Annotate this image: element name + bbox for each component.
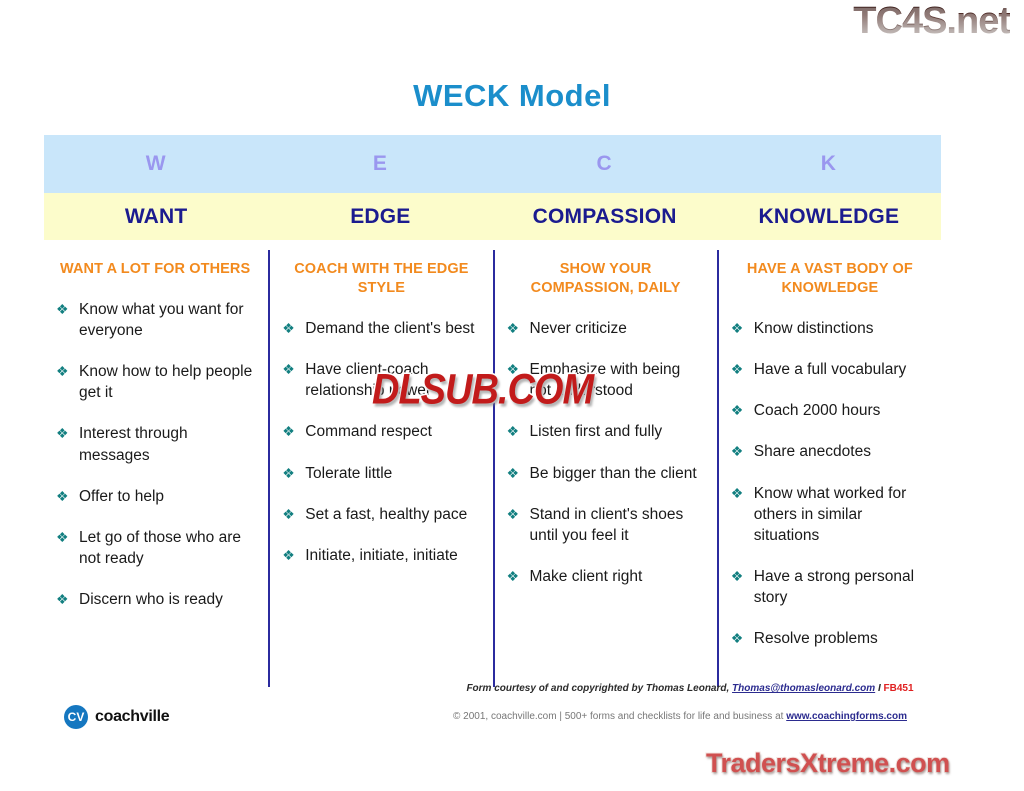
letter-e: E xyxy=(373,152,388,176)
letter-w: W xyxy=(146,152,167,176)
column-heading-knowledge: HAVE A VAST BODY OF KNOWLEDGE xyxy=(729,250,929,298)
diamond-bullet-icon: ❖ xyxy=(507,463,520,484)
list-item-text: Discern who is ready xyxy=(79,591,223,608)
list-item: ❖Know distinctions xyxy=(729,318,929,339)
diamond-bullet-icon: ❖ xyxy=(731,400,744,421)
list-item-text: Resolve problems xyxy=(754,630,878,647)
list-item: ❖Make client right xyxy=(505,566,705,587)
list-item: ❖Stand in client's shoes until you feel … xyxy=(505,504,705,546)
tc4s-brand-logo: TC4S.net xyxy=(853,2,1010,40)
list-item: ❖Know how to help people get it xyxy=(54,361,256,403)
copyright-text: © 2001, coachville.com | 500+ forms and … xyxy=(453,711,786,722)
list-item-text: Never criticize xyxy=(530,320,627,337)
item-list-knowledge: ❖Know distinctions ❖Have a full vocabula… xyxy=(729,318,929,649)
column-heading-want: WANT A LOT FOR OTHERS xyxy=(54,250,256,279)
diamond-bullet-icon: ❖ xyxy=(731,359,744,380)
list-item-text: Make client right xyxy=(530,568,643,585)
list-item: ❖Share anecdotes xyxy=(729,441,929,462)
list-item-text: Know distinctions xyxy=(754,320,874,337)
diamond-bullet-icon: ❖ xyxy=(282,359,295,380)
diamond-bullet-icon: ❖ xyxy=(282,421,295,442)
coachville-wordmark: coachville xyxy=(95,708,169,726)
list-item: ❖Have a strong personal story xyxy=(729,566,929,608)
list-item-text: Command respect xyxy=(305,423,432,440)
diamond-bullet-icon: ❖ xyxy=(507,566,520,587)
letter-cell-c: C xyxy=(493,135,717,193)
list-item: ❖Be bigger than the client xyxy=(505,463,705,484)
list-item-text: Be bigger than the client xyxy=(530,465,697,482)
letter-cell-k: K xyxy=(717,135,941,193)
word-cell-want: WANT xyxy=(44,193,268,240)
word-knowledge: KNOWLEDGE xyxy=(759,205,900,229)
column-compassion: SHOW YOUR COMPASSION, DAILY ❖Never criti… xyxy=(493,250,717,687)
diamond-bullet-icon: ❖ xyxy=(731,441,744,462)
letter-cell-e: E xyxy=(268,135,492,193)
page-title: WECK Model xyxy=(0,78,1024,114)
list-item: ❖Know what you want for everyone xyxy=(54,299,256,341)
diamond-bullet-icon: ❖ xyxy=(282,545,295,566)
list-item-text: Know what worked for others in similar s… xyxy=(754,485,907,544)
credit-separator: I xyxy=(875,683,883,694)
letters-header-row: W E C K xyxy=(44,135,941,193)
list-item: ❖Have a full vocabulary xyxy=(729,359,929,380)
diamond-bullet-icon: ❖ xyxy=(282,504,295,525)
diamond-bullet-icon: ❖ xyxy=(56,299,69,320)
word-edge: EDGE xyxy=(350,205,410,229)
item-list-compassion: ❖Never criticize ❖Emphasize with being n… xyxy=(505,318,705,587)
diamond-bullet-icon: ❖ xyxy=(731,628,744,649)
item-list-want: ❖Know what you want for everyone ❖Know h… xyxy=(54,299,256,610)
list-item: ❖Resolve problems xyxy=(729,628,929,649)
list-item-text: Know how to help people get it xyxy=(79,363,252,401)
copyright-line: © 2001, coachville.com | 500+ forms and … xyxy=(400,711,960,722)
coachingforms-link[interactable]: www.coachingforms.com xyxy=(786,711,907,722)
list-item-text: Tolerate little xyxy=(305,465,392,482)
list-item-text: Initiate, initiate, initiate xyxy=(305,547,458,564)
letter-c: C xyxy=(597,152,613,176)
list-item-text: Listen first and fully xyxy=(530,423,663,440)
diamond-bullet-icon: ❖ xyxy=(731,483,744,504)
letter-cell-w: W xyxy=(44,135,268,193)
item-list-edge: ❖Demand the client's best ❖Have client-c… xyxy=(280,318,480,566)
word-cell-compassion: COMPASSION xyxy=(493,193,717,240)
list-item: ❖Interest through messages xyxy=(54,423,256,465)
list-item-text: Have a strong personal story xyxy=(754,568,914,606)
list-item: ❖Set a fast, healthy pace xyxy=(280,504,480,525)
diamond-bullet-icon: ❖ xyxy=(56,486,69,507)
list-item: ❖Discern who is ready xyxy=(54,589,256,610)
coachville-logo[interactable]: CV coachville xyxy=(64,705,169,729)
diamond-bullet-icon: ❖ xyxy=(56,423,69,444)
content-columns: WANT A LOT FOR OTHERS ❖Know what you wan… xyxy=(44,250,941,687)
diamond-bullet-icon: ❖ xyxy=(507,318,520,339)
column-heading-compassion: SHOW YOUR COMPASSION, DAILY xyxy=(505,250,705,298)
tradersxtreme-watermark: TradersXtreme.com xyxy=(706,748,950,779)
column-heading-edge: COACH WITH THE EDGE STYLE xyxy=(280,250,480,298)
form-code-badge: FB451 xyxy=(884,683,914,694)
diamond-bullet-icon: ❖ xyxy=(507,421,520,442)
list-item: ❖Listen first and fully xyxy=(505,421,705,442)
diamond-bullet-icon: ❖ xyxy=(282,463,295,484)
word-want: WANT xyxy=(125,205,188,229)
diamond-bullet-icon: ❖ xyxy=(507,504,520,525)
list-item-text: Stand in client's shoes until you feel i… xyxy=(530,506,684,544)
list-item-text: Interest through messages xyxy=(79,425,188,463)
diamond-bullet-icon: ❖ xyxy=(56,361,69,382)
list-item: ❖Tolerate little xyxy=(280,463,480,484)
list-item-text: Share anecdotes xyxy=(754,443,871,460)
list-item: ❖Coach 2000 hours xyxy=(729,400,929,421)
list-item: ❖Know what worked for others in similar … xyxy=(729,483,929,546)
diamond-bullet-icon: ❖ xyxy=(731,318,744,339)
list-item: ❖Offer to help xyxy=(54,486,256,507)
list-item: ❖Let go of those who are not ready xyxy=(54,527,256,569)
column-knowledge: HAVE A VAST BODY OF KNOWLEDGE ❖Know dist… xyxy=(717,250,941,687)
list-item: ❖Never criticize xyxy=(505,318,705,339)
list-item: ❖Command respect xyxy=(280,421,480,442)
dlsub-watermark: DLSUB.COM xyxy=(372,366,593,414)
credit-prefix-text: Form courtesy of and copyrighted by Thom… xyxy=(466,683,732,694)
list-item: ❖Initiate, initiate, initiate xyxy=(280,545,480,566)
letter-k: K xyxy=(821,152,837,176)
word-compassion: COMPASSION xyxy=(533,205,677,229)
list-item-text: Set a fast, healthy pace xyxy=(305,506,467,523)
list-item: ❖Demand the client's best xyxy=(280,318,480,339)
list-item-text: Offer to help xyxy=(79,488,164,505)
list-item-text: Let go of those who are not ready xyxy=(79,529,241,567)
list-item-text: Demand the client's best xyxy=(305,320,474,337)
author-email-link[interactable]: Thomas@thomasleonard.com xyxy=(732,683,875,694)
diamond-bullet-icon: ❖ xyxy=(731,566,744,587)
list-item-text: Know what you want for everyone xyxy=(79,301,244,339)
list-item-text: Coach 2000 hours xyxy=(754,402,881,419)
words-header-row: WANT EDGE COMPASSION KNOWLEDGE xyxy=(44,193,941,240)
word-cell-knowledge: KNOWLEDGE xyxy=(717,193,941,240)
cv-circle-icon: CV xyxy=(64,705,88,729)
column-edge: COACH WITH THE EDGE STYLE ❖Demand the cl… xyxy=(268,250,492,687)
form-credit-line: Form courtesy of and copyrighted by Thom… xyxy=(430,683,950,694)
list-item-text: Have a full vocabulary xyxy=(754,361,907,378)
column-want: WANT A LOT FOR OTHERS ❖Know what you wan… xyxy=(44,250,268,687)
diamond-bullet-icon: ❖ xyxy=(56,527,69,548)
diamond-bullet-icon: ❖ xyxy=(56,589,69,610)
diamond-bullet-icon: ❖ xyxy=(282,318,295,339)
word-cell-edge: EDGE xyxy=(268,193,492,240)
